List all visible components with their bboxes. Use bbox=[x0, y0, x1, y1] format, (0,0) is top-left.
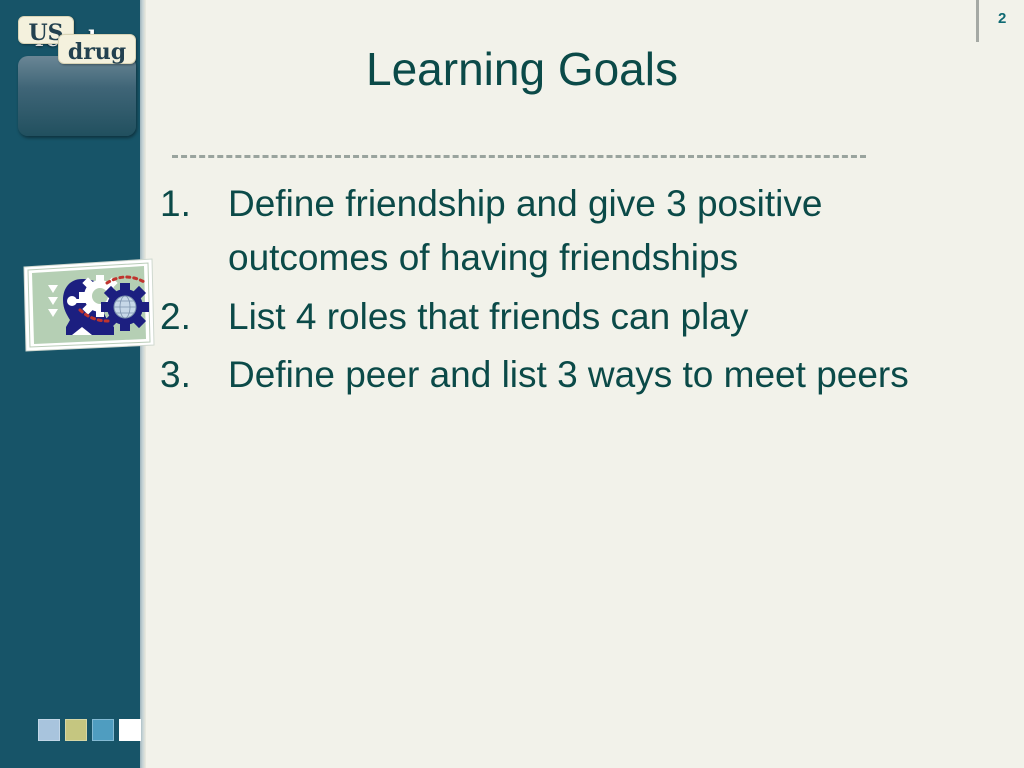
square-light-blue bbox=[38, 719, 60, 741]
head-gears-globe-clipart bbox=[22, 257, 156, 353]
square-white bbox=[119, 719, 141, 741]
presentation-slide: US drug rehab centers bbox=[0, 0, 1024, 768]
learning-goals-list: 1. Define friendship and give 3 positive… bbox=[160, 177, 990, 407]
logo-tag-drug: drug bbox=[58, 34, 136, 64]
list-item: 1. Define friendship and give 3 positive… bbox=[160, 177, 990, 286]
sidebar-color-squares bbox=[38, 719, 141, 741]
list-item-text: List 4 roles that friends can play bbox=[228, 290, 990, 344]
square-medium-blue bbox=[92, 719, 114, 741]
square-khaki bbox=[65, 719, 87, 741]
list-item-number: 1. bbox=[160, 177, 228, 231]
list-item: 2. List 4 roles that friends can play bbox=[160, 290, 990, 344]
page-number: 2 bbox=[998, 10, 1006, 27]
sidebar-edge-highlight bbox=[140, 0, 146, 768]
page-number-badge: 2 bbox=[976, 0, 1024, 42]
list-item-number: 3. bbox=[160, 348, 228, 402]
list-item-text: Define peer and list 3 ways to meet peer… bbox=[228, 348, 990, 402]
title-divider bbox=[172, 155, 866, 158]
page-number-rule bbox=[976, 0, 979, 42]
list-item: 3. Define peer and list 3 ways to meet p… bbox=[160, 348, 990, 402]
list-item-number: 2. bbox=[160, 290, 228, 344]
logo-box bbox=[18, 56, 136, 136]
slide-title: Learning Goals bbox=[172, 44, 872, 95]
brand-logo: US drug rehab centers bbox=[10, 8, 140, 140]
list-item-text: Define friendship and give 3 positive ou… bbox=[228, 177, 990, 286]
